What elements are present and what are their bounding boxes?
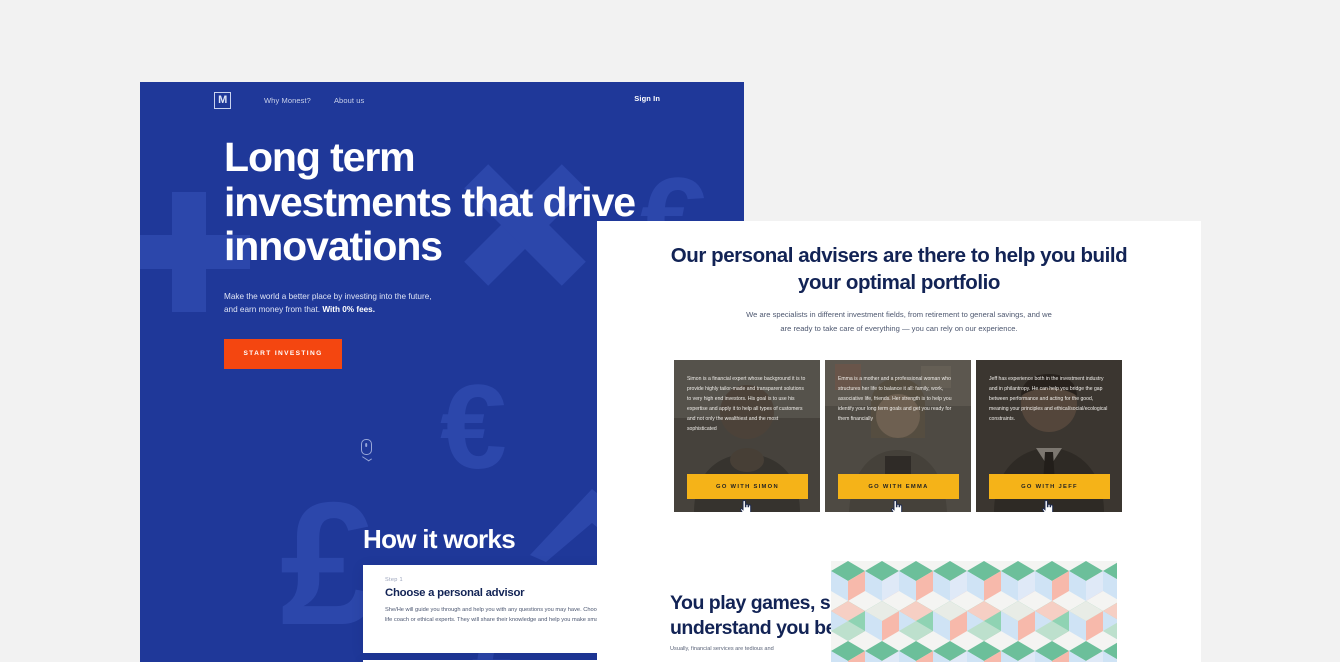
adviser-card-list: Simon is a financial expert whose backgr… [674,360,1122,512]
adviser-card-emma[interactable]: Emma is a mother and a professional woma… [825,360,971,512]
start-investing-button[interactable]: START INVESTING [224,339,342,369]
adviser-card-jeff[interactable]: Jeff has experience both in the investme… [976,360,1122,512]
emma-bio: Emma is a mother and a professional woma… [838,375,958,425]
hero-subtext: Make the world a better place by investi… [224,290,434,317]
jeff-bio: Jeff has experience both in the investme… [989,375,1109,425]
hero-headline: Long term investments that drive innovat… [224,135,644,269]
nav-links: Why Monest? About us [264,96,364,105]
scroll-down-indicator[interactable] [359,439,373,460]
go-with-jeff-button[interactable]: GO WITH JEFF [989,474,1110,499]
hero-subtext-bold: With 0% fees. [322,305,375,314]
mouse-icon [361,439,372,455]
chevron-down-icon [363,456,370,460]
go-with-simon-button[interactable]: GO WITH SIMON [687,474,808,499]
nav-link-about-us[interactable]: About us [334,96,364,105]
advisers-panel: Our personal advisers are there to help … [597,221,1201,662]
advisers-subheading: We are specialists in different investme… [743,308,1055,335]
monest-logo-icon[interactable]: M [214,92,231,109]
isometric-blocks-illustration [831,561,1117,662]
hero-copy: Long term investments that drive innovat… [224,135,644,369]
simon-bio: Simon is a financial expert whose backgr… [687,375,807,435]
page-root: € € £ € M Why Monest? About us Sign In L… [0,0,1340,662]
nav-link-why-monest[interactable]: Why Monest? [264,96,311,105]
how-it-works-title: How it works [363,524,515,555]
advisers-heading: Our personal advisers are there to help … [664,243,1134,296]
sign-in-link[interactable]: Sign In [634,94,660,103]
euro-symbol-decoration-2: € [440,367,507,487]
games-subtext: Usually, financial services are tedious … [670,645,850,655]
adviser-card-simon[interactable]: Simon is a financial expert whose backgr… [674,360,820,512]
go-with-emma-button[interactable]: GO WITH EMMA [838,474,959,499]
